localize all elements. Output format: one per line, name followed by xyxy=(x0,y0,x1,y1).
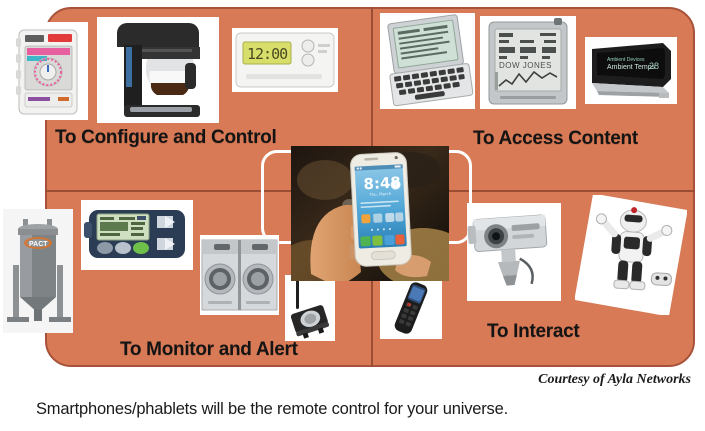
photo-washer-dryer xyxy=(200,235,279,315)
photo-water-filter-tank: PACT xyxy=(3,209,73,333)
svg-text:12:00: 12:00 xyxy=(247,45,288,63)
photo-insulin-pump xyxy=(81,200,193,270)
svg-text:DOW JONES: DOW JONES xyxy=(499,61,552,70)
slide-caption: Smartphones/phablets will be the remote … xyxy=(36,400,508,419)
quadrant-label-configure: To Configure and Control xyxy=(55,127,276,149)
quadrant-label-monitor: To Monitor and Alert xyxy=(120,339,298,361)
quadrant-label-access: To Access Content xyxy=(473,128,638,150)
photo-security-camera xyxy=(467,203,561,301)
photo-stock-ticker-display: DOW JONES xyxy=(480,16,576,109)
slide-canvas: 12:00 To Configure and Control xyxy=(0,0,705,431)
photo-led-ticker-bar: Ambient Devices Ambient Temps 28 xyxy=(585,37,677,104)
photo-remote-control xyxy=(380,277,442,339)
photo-irrigation-controller xyxy=(6,22,88,120)
svg-text:28: 28 xyxy=(649,61,659,71)
photo-smartphone-in-hand: 8:48 Thu, March xyxy=(291,146,449,281)
photo-thermostat: 12:00 xyxy=(232,28,338,92)
photo-wireless-sensor xyxy=(285,275,335,341)
photo-handheld-organizer xyxy=(380,13,475,109)
quadrant-label-interact: To Interact xyxy=(487,321,579,343)
photo-coffee-maker xyxy=(97,17,219,123)
svg-text:Ambient Devices: Ambient Devices xyxy=(607,57,645,63)
courtesy-credit: Courtesy of Ayla Networks xyxy=(538,372,691,388)
svg-text:PACT: PACT xyxy=(29,241,48,248)
photo-toy-robot xyxy=(575,195,687,315)
